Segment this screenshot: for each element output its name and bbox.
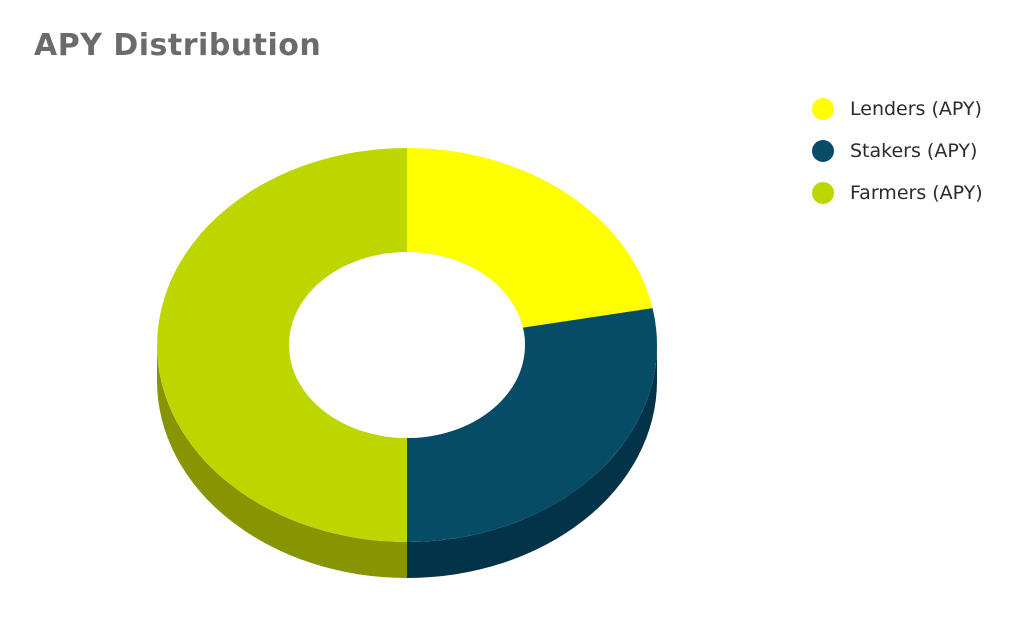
legend-swatch-icon [812, 98, 834, 120]
legend-item-label: Stakers (APY) [850, 140, 977, 162]
legend-item-label: Farmers (APY) [850, 182, 983, 204]
donut-chart-svg [0, 0, 800, 633]
legend-item-label: Lenders (APY) [850, 98, 982, 120]
donut-chart-plot-area [0, 0, 800, 633]
legend-swatch-icon [812, 140, 834, 162]
legend-item[interactable]: Farmers (APY) [812, 172, 1017, 214]
legend-item[interactable]: Stakers (APY) [812, 130, 1017, 172]
chart-legend: Lenders (APY)Stakers (APY)Farmers (APY) [812, 88, 1017, 214]
legend-swatch-icon [812, 182, 834, 204]
chart-root: APY Distribution Lenders (APY)Stakers (A… [0, 0, 1024, 633]
legend-item[interactable]: Lenders (APY) [812, 88, 1017, 130]
donut-hole [289, 252, 525, 438]
